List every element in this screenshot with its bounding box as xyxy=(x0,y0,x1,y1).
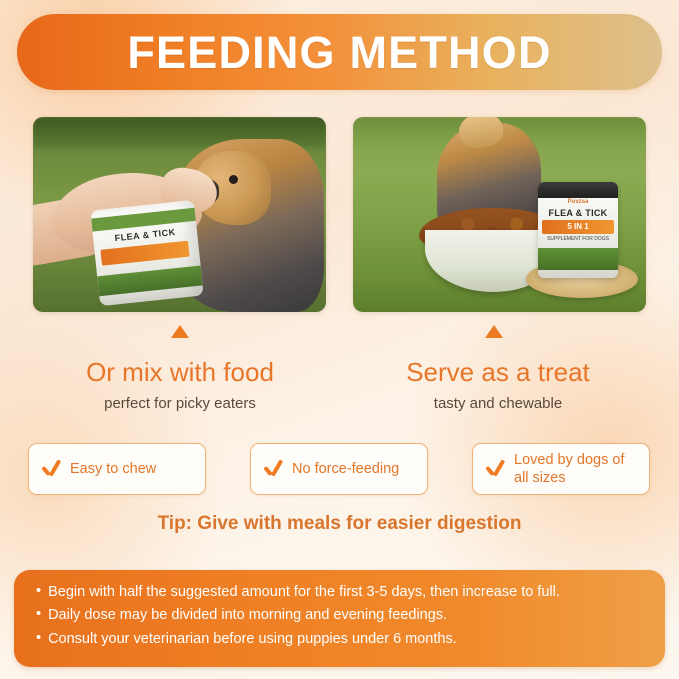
jar-label-bottom xyxy=(538,248,618,270)
bullet-icon: • xyxy=(36,628,41,650)
supplement-bottle: FLEA & TICK xyxy=(90,200,203,306)
column-heading-right: Serve as a treat tasty and chewable xyxy=(338,358,658,412)
page-title: FEEDING METHOD xyxy=(127,30,551,75)
badge-easy-to-chew: Easy to chew xyxy=(28,443,206,495)
check-icon xyxy=(41,459,61,479)
badge-label: Loved by dogs of all sizes xyxy=(514,451,637,487)
bottle-label-bottom xyxy=(97,265,203,296)
column-heading-left: Or mix with food perfect for picky eater… xyxy=(20,358,340,412)
photo-row: FLEA & TICK Puvzsa FLEA & TICK 5 IN 1 SU… xyxy=(33,117,646,312)
arrow-up-icon-left xyxy=(171,325,189,338)
column-subtitle-serve-as-treat: tasty and chewable xyxy=(338,395,658,412)
bottle-label-band xyxy=(100,241,189,266)
title-banner: FEEDING METHOD xyxy=(17,14,662,90)
bullet-icon: • xyxy=(36,581,41,603)
badge-no-force-feeding: No force-feeding xyxy=(250,443,428,495)
jar-title: FLEA & TICK xyxy=(538,208,618,218)
jar-cap xyxy=(538,182,618,198)
jar-subtitle: SUPPLEMENT FOR DOGS xyxy=(538,236,618,242)
arrow-up-icon-right xyxy=(485,325,503,338)
dog-eye xyxy=(229,175,238,184)
instructions-footer: • Begin with half the suggested amount f… xyxy=(14,570,665,667)
feeding-method-infographic: FEEDING METHOD FLEA & TICK xyxy=(0,0,679,679)
dog-bowl-with-jar-photo: Puvzsa FLEA & TICK 5 IN 1 SUPPLEMENT FOR… xyxy=(353,117,646,312)
column-subtitle-mix-with-food: perfect for picky eaters xyxy=(20,395,340,412)
badge-row: Easy to chew No force-feeding Loved by d… xyxy=(28,443,650,495)
check-icon xyxy=(485,459,505,479)
supplement-jar: Puvzsa FLEA & TICK 5 IN 1 SUPPLEMENT FOR… xyxy=(538,182,618,278)
check-icon xyxy=(263,459,283,479)
hand-feeding-dog-photo: FLEA & TICK xyxy=(33,117,326,312)
badge-loved-by-dogs: Loved by dogs of all sizes xyxy=(472,443,650,495)
footer-bullet-line: • Daily dose may be divided into morning… xyxy=(36,604,645,627)
column-title-mix-with-food: Or mix with food xyxy=(20,358,340,388)
footer-line-text: Consult your veterinarian before using p… xyxy=(48,628,457,651)
footer-bullet-line: • Consult your veterinarian before using… xyxy=(36,628,645,651)
column-title-serve-as-treat: Serve as a treat xyxy=(338,358,658,388)
bullet-icon: • xyxy=(36,604,41,626)
footer-bullet-line: • Begin with half the suggested amount f… xyxy=(36,581,645,604)
jar-brand: Puvzsa xyxy=(538,199,618,205)
footer-line-text: Daily dose may be divided into morning a… xyxy=(48,604,447,627)
tip-text: Tip: Give with meals for easier digestio… xyxy=(0,513,679,535)
jar-band: 5 IN 1 xyxy=(542,220,614,234)
badge-label: Easy to chew xyxy=(70,460,156,478)
footer-line-text: Begin with half the suggested amount for… xyxy=(48,581,560,604)
badge-label: No force-feeding xyxy=(292,460,399,478)
